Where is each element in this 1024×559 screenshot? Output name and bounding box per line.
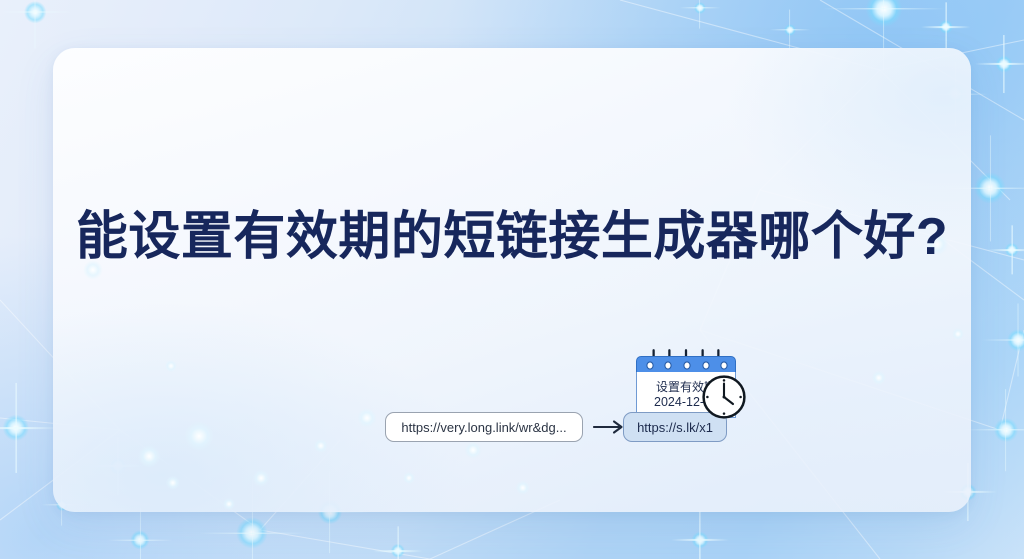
spark-particle [403,472,415,484]
calendar-header [636,356,736,373]
spark-particle [692,532,709,549]
spark-particle [391,544,405,558]
spark-particle [1005,243,1019,257]
spark-particle [694,2,706,14]
spark-particle [974,172,1005,203]
spark-particle [357,408,376,427]
spark-particle [1007,329,1024,351]
spark-particle [236,517,267,548]
spark-particle [185,422,214,451]
short-link-expiry-diagram: https://very.long.link/wr&dg... [383,336,743,456]
spark-particle [866,0,902,27]
spark-particle [516,481,530,495]
spark-particle [952,328,964,340]
spark-particle [166,476,180,490]
spark-particle [994,418,1018,442]
clock-icon [701,374,747,420]
spark-particle [3,415,29,441]
spark-particle [223,498,235,510]
spark-particle [24,1,46,23]
spark-particle [253,470,270,487]
spark-particle [996,56,1013,73]
spark-particle [314,439,328,453]
spark-particle [872,371,886,385]
spark-particle [138,445,160,467]
page-title: 能设置有效期的短链接生成器哪个好? [53,206,971,268]
arrow-right-icon [593,419,627,435]
slide-canvas: 能设置有效期的短链接生成器哪个好? https://very.long.link… [0,0,1024,559]
spark-particle [130,530,149,549]
content-card: 能设置有效期的短链接生成器哪个好? https://very.long.link… [53,48,971,512]
spark-particle [939,20,953,34]
spark-particle [165,360,177,372]
spark-particle [784,24,796,36]
long-url-box: https://very.long.link/wr&dg... [385,412,583,442]
